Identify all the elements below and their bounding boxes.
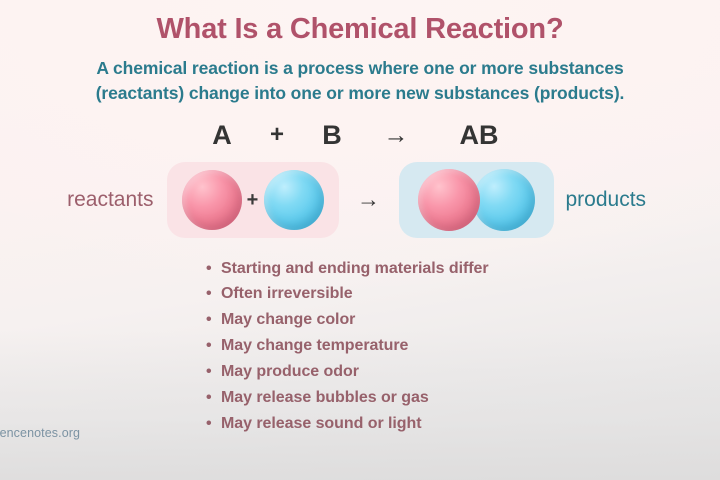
list-item-label: Starting and ending materials differ: [221, 260, 489, 277]
equation-plus-sign: +: [255, 123, 299, 147]
list-item-label: May change color: [221, 311, 355, 328]
page-title: What Is a Chemical Reaction?: [0, 0, 720, 46]
equation-reactant-a: A: [189, 122, 255, 149]
subtitle-block: A chemical reaction is a process where o…: [22, 56, 698, 106]
list-item-label: Often irreversible: [221, 285, 353, 302]
ball-model-row: reactants + → products: [0, 158, 720, 242]
products-group-box: [399, 162, 554, 238]
bullet-icon: •: [206, 256, 212, 282]
bullet-icon: •: [206, 281, 212, 307]
model-arrow-icon: →: [339, 188, 399, 211]
reactants-group-box: +: [167, 162, 339, 238]
reactants-label: reactants: [22, 189, 167, 210]
products-label: products: [554, 189, 699, 210]
list-item-label: May release bubbles or gas: [221, 389, 429, 406]
blue-sphere-icon: [264, 170, 324, 230]
source-watermark: sciencenotes.org: [0, 426, 704, 440]
facts-list: • Starting and ending materials differ •…: [0, 256, 720, 437]
bullet-icon: •: [206, 333, 212, 359]
bullet-icon: •: [206, 307, 212, 333]
list-item-label: May change temperature: [221, 337, 408, 354]
subtitle-line-2: (reactants) change into one or more new …: [22, 81, 698, 106]
list-item-label: May produce odor: [221, 363, 359, 380]
list-item: • May release bubbles or gas: [206, 385, 720, 411]
list-item: • May produce odor: [206, 359, 720, 385]
model-plus-sign: +: [242, 190, 264, 210]
list-item: • May change temperature: [206, 333, 720, 359]
equation-reactant-b: B: [299, 122, 365, 149]
infographic-canvas: What Is a Chemical Reaction? A chemical …: [0, 0, 720, 480]
list-item: • Starting and ending materials differ: [206, 256, 720, 282]
symbolic-equation: A + B → AB: [0, 122, 720, 149]
blue-sphere-icon: [473, 169, 535, 231]
bullet-icon: •: [206, 359, 212, 385]
bullet-icon: •: [206, 385, 212, 411]
subtitle-line-1: A chemical reaction is a process where o…: [22, 56, 698, 81]
equation-arrow-icon: →: [365, 123, 427, 148]
pink-sphere-icon: [418, 169, 480, 231]
list-item: • Often irreversible: [206, 281, 720, 307]
equation-product-ab: AB: [427, 122, 531, 149]
list-item: • May change color: [206, 307, 720, 333]
pink-sphere-icon: [182, 170, 242, 230]
